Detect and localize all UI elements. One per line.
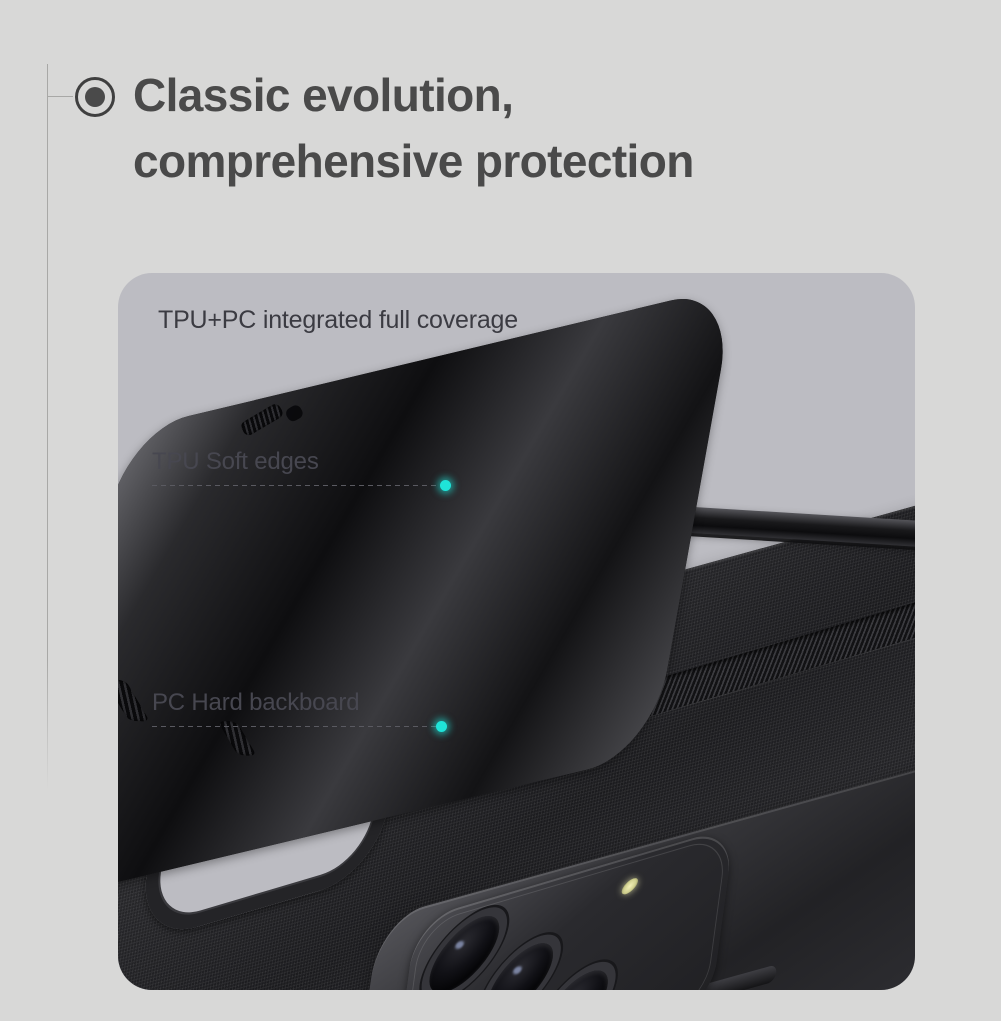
product-illustration	[118, 273, 915, 990]
camera-flash-icon	[619, 876, 641, 896]
page-title: Classic evolution, comprehensive protect…	[133, 62, 963, 194]
annotation-leader-line	[152, 726, 440, 727]
annotation-label: TPU Soft edges	[152, 448, 319, 476]
callout-dot-icon	[440, 480, 451, 491]
target-ring-icon	[75, 77, 115, 117]
guide-tick-line	[47, 96, 73, 97]
page-title-line-2: comprehensive protection	[133, 128, 963, 194]
annotation-label: PC Hard backboard	[152, 689, 359, 717]
callout-dot-icon	[436, 721, 447, 732]
page-title-line-1: Classic evolution,	[133, 69, 513, 121]
annotation-leader-line	[152, 485, 444, 486]
product-panel: TPU+PC integrated full coverage	[118, 273, 915, 990]
product-feature-banner: Classic evolution, comprehensive protect…	[0, 0, 1001, 1021]
guide-vertical-line	[47, 64, 48, 790]
